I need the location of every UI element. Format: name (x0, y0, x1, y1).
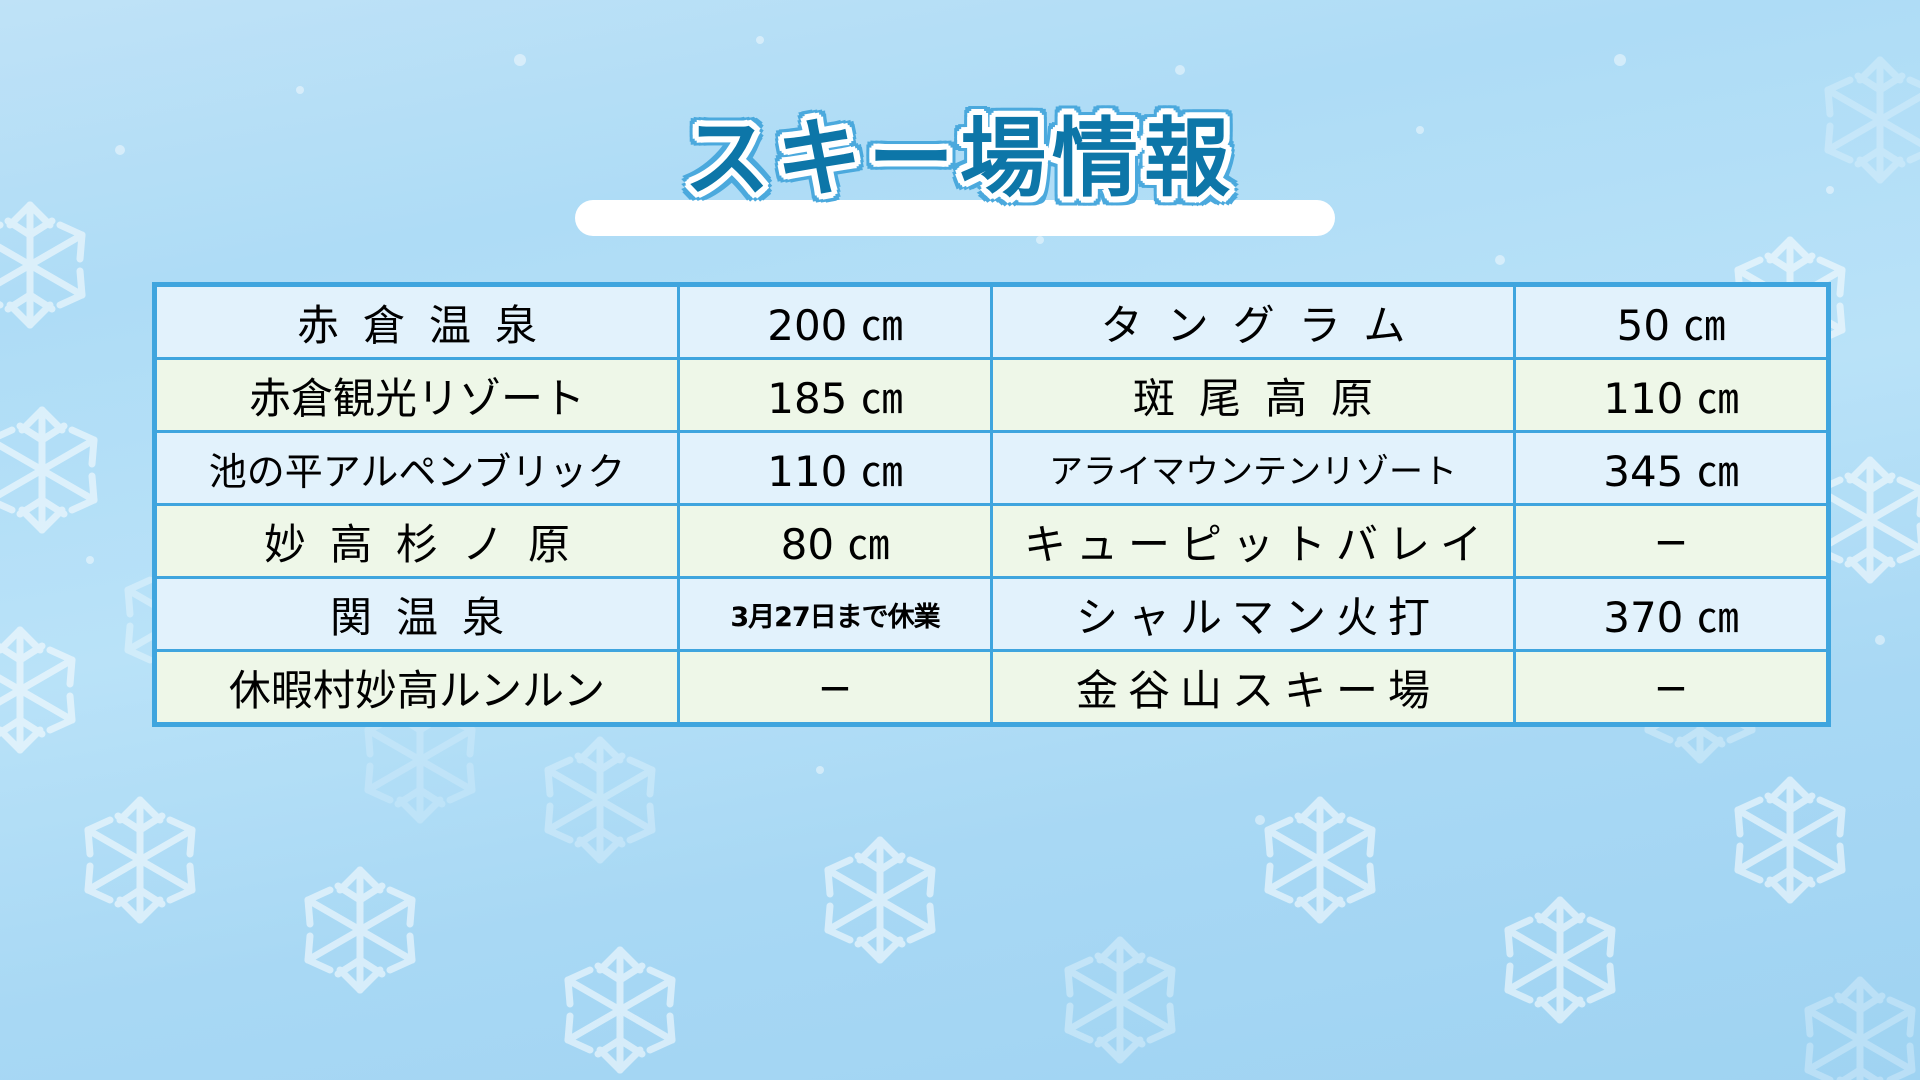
snow-depth-left: − (679, 651, 992, 725)
snow-depth-right: 345 ㎝ (1515, 432, 1829, 505)
resort-name-right: シャルマン火打 (992, 578, 1515, 651)
snow-depth-right: 370 ㎝ (1515, 578, 1829, 651)
ski-resort-table: 赤倉温泉 200 ㎝ タングラム 50 ㎝ 赤倉観光リゾート 185 ㎝ 斑尾高… (152, 282, 1831, 727)
resort-name-left: 妙高杉ノ原 (155, 505, 679, 578)
resort-name-left: 赤倉温泉 (155, 285, 679, 359)
resort-name-left: 休暇村妙高ルンルン (155, 651, 679, 725)
snow-depth-left: 110 ㎝ (679, 432, 992, 505)
resort-name-left: 赤倉観光リゾート (155, 359, 679, 432)
resort-name-left: 関温泉 (155, 578, 679, 651)
resort-name-right: 斑尾高原 (992, 359, 1515, 432)
table-row: 赤倉温泉 200 ㎝ タングラム 50 ㎝ (155, 285, 1829, 359)
table-row: 休暇村妙高ルンルン − 金谷山スキー場 − (155, 651, 1829, 725)
snow-depth-right: 110 ㎝ (1515, 359, 1829, 432)
table-row: 妙高杉ノ原 80 ㎝ キューピットバレイ − (155, 505, 1829, 578)
table-row: 池の平アルペンブリック 110 ㎝ アライマウンテンリゾート 345 ㎝ (155, 432, 1829, 505)
closure-notice: 3月27日まで休業 (679, 578, 992, 651)
snow-depth-right: − (1515, 505, 1829, 578)
resort-name-right: キューピットバレイ (992, 505, 1515, 578)
snow-depth-left: 80 ㎝ (679, 505, 992, 578)
snow-depth-right: 50 ㎝ (1515, 285, 1829, 359)
resort-name-left: 池の平アルペンブリック (155, 432, 679, 505)
table-row: 関温泉 3月27日まで休業 シャルマン火打 370 ㎝ (155, 578, 1829, 651)
page-title-wrapper: スキー場情報 (0, 88, 1920, 213)
resort-name-right: 金谷山スキー場 (992, 651, 1515, 725)
table-row: 赤倉観光リゾート 185 ㎝ 斑尾高原 110 ㎝ (155, 359, 1829, 432)
snow-depth-left: 200 ㎝ (679, 285, 992, 359)
resort-name-right: タングラム (992, 285, 1515, 359)
snow-depth-right: − (1515, 651, 1829, 725)
snow-depth-left: 185 ㎝ (679, 359, 992, 432)
resort-name-right: アライマウンテンリゾート (992, 432, 1515, 505)
page-title: スキー場情報 (684, 88, 1236, 213)
